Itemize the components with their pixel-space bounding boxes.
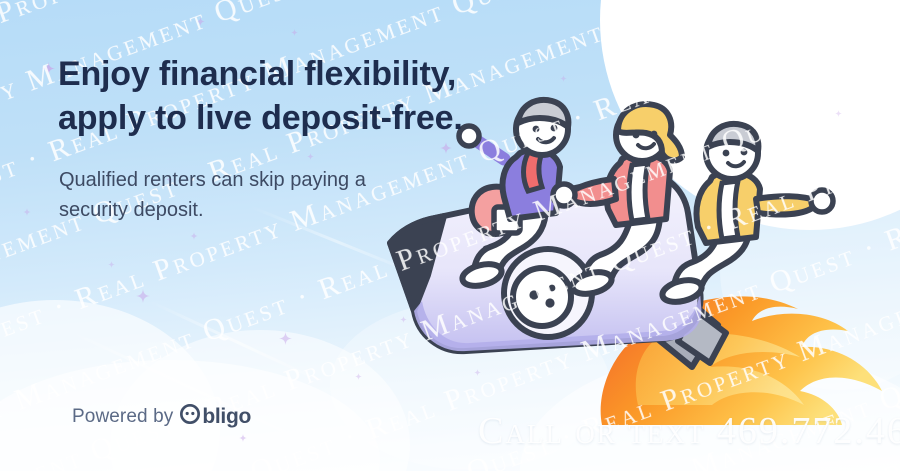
sparkle-star-icon: [355, 373, 362, 380]
deposit-free-promo-banner: Real Property Management Quest · Real Pr…: [0, 0, 900, 471]
subcopy-line-1: Qualified renters can skip paying a: [59, 165, 419, 195]
powered-by-label: Powered by: [72, 406, 173, 428]
rocket-with-three-riders-illustration: [370, 95, 900, 425]
sparkle-star-icon: [196, 17, 205, 26]
sparkle-star-icon: [108, 261, 115, 268]
sparkle-star-icon: [136, 289, 150, 303]
sparkle-star-icon: [291, 29, 298, 36]
sparkle-star-icon: [23, 208, 31, 216]
sparkle-star-icon: [239, 434, 247, 442]
phone-cta-text[interactable]: Call or text 469.772.4689: [478, 409, 900, 453]
sparkle-star-icon: [307, 153, 314, 160]
obligo-o-face-icon: [180, 404, 200, 430]
sparkle-star-icon: [560, 75, 567, 82]
sparkle-star-icon: [279, 332, 292, 345]
obligo-wordmark: bligo: [202, 405, 251, 429]
obligo-logo[interactable]: bligo: [180, 404, 251, 430]
sparkle-star-icon: [42, 62, 55, 75]
headline-line-1: Enjoy financial flexibility,: [58, 52, 518, 96]
powered-by-lockup: Powered by bligo: [72, 404, 251, 430]
headline-line-2: apply to live deposit-free.: [58, 96, 518, 140]
subcopy-line-2: security deposit.: [59, 195, 419, 225]
sparkle-star-icon: [190, 232, 198, 240]
page-title: Enjoy financial flexibility, apply to li…: [58, 52, 518, 140]
subheadline: Qualified renters can skip paying a secu…: [59, 165, 419, 225]
